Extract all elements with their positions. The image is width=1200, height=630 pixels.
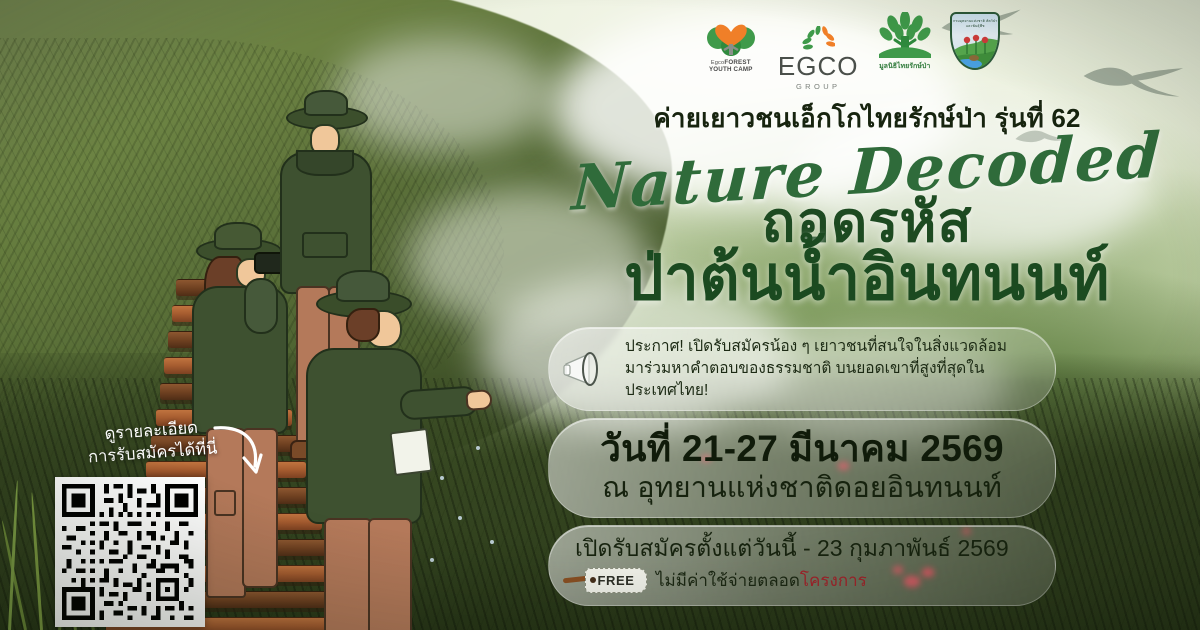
logo-caption: EgcoFOREST YOUTH CAMP — [709, 60, 753, 74]
sunburst-leaf-icon — [801, 26, 835, 52]
free-note-plain: ไม่มีค่าใช้จ่ายตลอด — [656, 571, 800, 590]
partner-logo-strip: EgcoFOREST YOUTH CAMP — [695, 12, 1005, 92]
announcement-panel: ประกาศ! เปิดรับสมัครน้อง ๆ เยาวชนที่สนใจ… — [548, 327, 1056, 411]
curved-arrow-down-icon — [211, 422, 269, 486]
arm — [244, 278, 278, 334]
hat-crown — [336, 270, 390, 302]
notebook-icon — [389, 428, 432, 476]
grass-tuft — [30, 492, 43, 630]
egco-subtext: GROUP — [796, 82, 841, 91]
park-shield-icon: กรมอุทยานแห่งชาติ สัตว์ป่า และพันธุ์พืช — [950, 12, 1000, 70]
trousers — [324, 518, 372, 630]
qr-registration-block[interactable]: ดูรายละเอียด การรับสมัครได้ที่นี่ — [55, 420, 255, 627]
foundation-caption: มูลนิธิไทยรักษ์ป่า — [879, 61, 930, 72]
promo-banner: EgcoFOREST YOUTH CAMP — [0, 0, 1200, 630]
megaphone-icon — [563, 348, 615, 390]
hair — [346, 308, 380, 342]
logo-egco-forest-youth-camp: EgcoFOREST YOUTH CAMP — [695, 12, 767, 74]
free-price-tag-icon: FREE — [575, 568, 647, 593]
announcement-line-1: ประกาศ! เปิดรับสมัครน้อง ๆ เยาวชนที่สนใจ… — [625, 336, 1033, 358]
qr-caption-line-1: ดูรายละเอียด — [104, 419, 198, 443]
registration-panel: เปิดรับสมัครตั้งแต่วันนี้ - 23 กุมภาพันธ… — [548, 525, 1056, 607]
logo-egco-group: EGCO GROUP — [773, 12, 864, 91]
hand-tree-icon — [877, 12, 933, 60]
event-location: ณ อุทยานแห่งชาติดอยอินทนนท์ — [569, 471, 1035, 505]
clover-heart-tree-icon — [702, 12, 760, 58]
event-date-panel: วันที่ 21-27 มีนาคม 2569 ณ อุทยานแห่งชาต… — [548, 418, 1056, 518]
qr-code-icon[interactable] — [55, 477, 205, 627]
main-content: ค่ายเยาวชนเอ็กโกไทยรักษ์ป่า รุ่นที่ 62 N… — [548, 98, 1186, 606]
camp-caption-youth: YOUTH CAMP — [709, 66, 753, 73]
trousers — [368, 518, 412, 630]
hiker-pointing — [288, 202, 488, 630]
registration-period: เปิดรับสมัครตั้งแต่วันนี้ - 23 กุมภาพันธ… — [575, 535, 1035, 563]
thai-title-line-2: ป่าต้นน้ำอินทนนท์ — [548, 246, 1186, 311]
hat-crown — [214, 222, 262, 250]
free-row: FREE ไม่มีค่าใช้จ่ายตลอดโครงการ — [575, 567, 1035, 594]
egco-wordmark: EGCO — [778, 53, 859, 79]
event-date: วันที่ 21-27 มีนาคม 2569 — [569, 428, 1035, 469]
bird-icon — [1079, 58, 1185, 100]
logo-national-park: กรมอุทยานแห่งชาติ สัตว์ป่า และพันธุ์พืช — [945, 12, 1005, 70]
logo-thai-rak-pa-foundation: มูลนิธิไทยรักษ์ป่า — [870, 12, 940, 72]
announcement-text: ประกาศ! เปิดรับสมัครน้อง ๆ เยาวชนที่สนใจ… — [625, 336, 1033, 402]
announcement-line-2: มาร่วมหาคำตอบของธรรมชาติ บนยอดเขาที่สูงท… — [625, 358, 1033, 402]
hood — [296, 150, 354, 176]
free-note-accent: โครงการ — [800, 571, 867, 590]
qr-caption-line-2: การรับสมัครได้ที่นี่ — [88, 440, 218, 467]
park-arc-text: กรมอุทยานแห่งชาติ สัตว์ป่า และพันธุ์พืช — [952, 19, 998, 29]
hat-crown — [304, 90, 348, 116]
free-note: ไม่มีค่าใช้จ่ายตลอดโครงการ — [656, 567, 867, 594]
